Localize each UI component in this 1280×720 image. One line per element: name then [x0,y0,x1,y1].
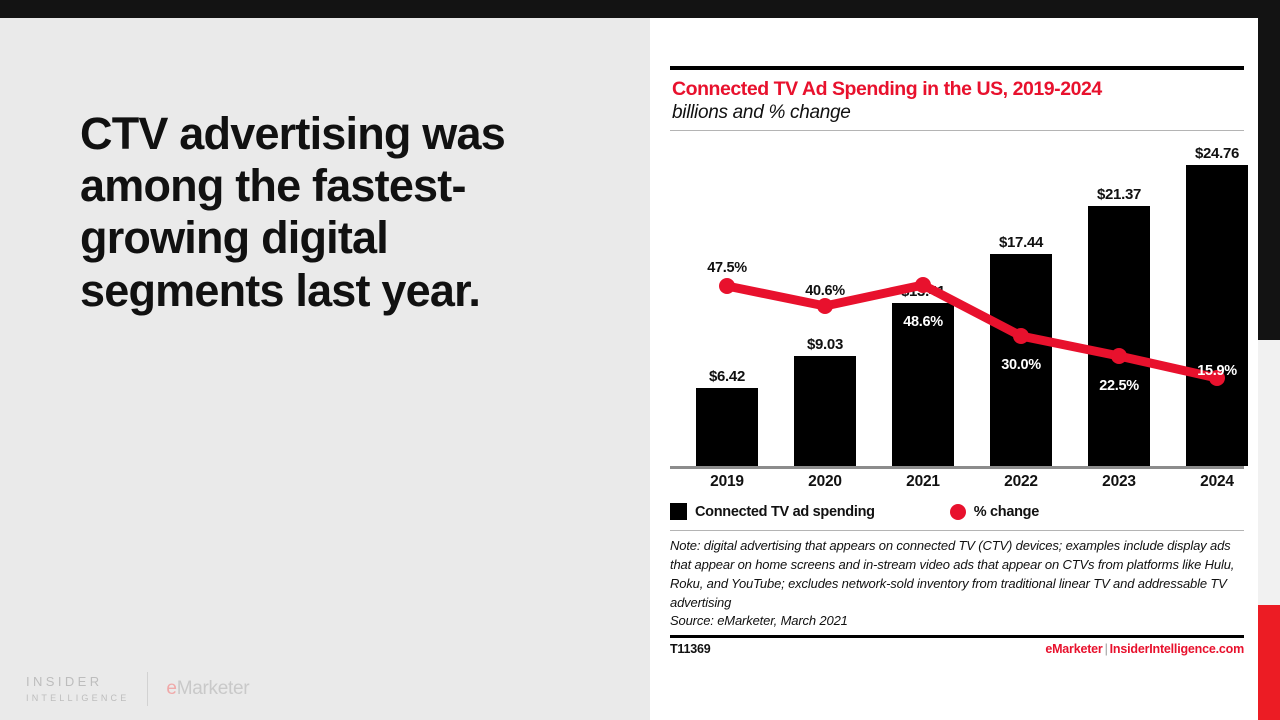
slide-headline: CTV advertising was among the fastest-gr… [80,108,600,317]
x-tick-2020: 2020 [779,473,871,491]
footer-site[interactable]: InsiderIntelligence.com [1110,642,1244,656]
footer-code: T11369 [670,642,711,656]
pct-label-2022: 30.0% [981,357,1061,373]
legend-item-spending: Connected TV ad spending [670,503,875,520]
chart-note-text: Note: digital advertising that appears o… [670,538,1234,610]
chart-card: Connected TV Ad Spending in the US, 2019… [650,18,1258,720]
footer-separator: | [1103,642,1110,656]
x-tick-2023: 2023 [1073,473,1165,491]
right-edge-strip-black [1258,0,1280,340]
footer-attribution: eMarketer|InsiderIntelligence.com [1045,642,1244,656]
right-edge-strip-red [1258,605,1280,720]
legend-label-spending: Connected TV ad spending [695,504,875,520]
pct-label-2023: 22.5% [1079,378,1159,394]
x-tick-2022: 2022 [975,473,1067,491]
x-tick-2021: 2021 [877,473,969,491]
legend-item-pct-change: % change [950,504,1039,520]
title-rule-bottom [670,130,1244,131]
pct-label-2019: 47.5% [687,260,767,276]
legend-label-pct-change: % change [974,504,1039,520]
chart-source-text: Source: eMarketer, March 2021 [670,613,848,628]
pct-label-2024: 15.9% [1177,363,1257,379]
x-tick-2019: 2019 [681,473,773,491]
x-axis-ticks: 2019 2020 2021 2022 2023 2024 [670,469,1244,497]
percent-change-line [670,135,1244,469]
plot-area: $6.42 $9.03 $13.41 $17.44 $21.37 $24.76 … [670,135,1244,469]
chart-subtitle: billions and % change [670,101,1244,130]
chart-legend: Connected TV ad spending % change [670,503,1244,530]
insider-logo-line2: INTELLIGENCE [26,692,129,705]
emarketer-logo-e: e [166,678,176,699]
insider-logo-line1: INSIDER [26,673,129,692]
insider-intelligence-logo: INSIDER INTELLIGENCE [26,673,129,705]
brand-divider [147,672,148,706]
legend-circle-icon [950,504,966,520]
footer-brand: eMarketer [1045,642,1102,656]
chart-note: Note: digital advertising that appears o… [670,531,1244,635]
x-tick-2024: 2024 [1171,473,1263,491]
emarketer-logo: eMarketer [166,678,249,700]
top-black-bar [0,0,1280,18]
headline-panel: CTV advertising was among the fastest-gr… [0,18,650,720]
emarketer-logo-text: Marketer [177,678,250,699]
pct-label-2021: 48.6% [883,314,963,330]
pct-label-2020: 40.6% [785,283,865,299]
chart-footer: T11369 eMarketer|InsiderIntelligence.com [670,638,1244,656]
brand-lockup: INSIDER INTELLIGENCE eMarketer [26,672,249,706]
legend-square-icon [670,503,687,520]
chart-title: Connected TV Ad Spending in the US, 2019… [670,70,1244,101]
chart-card-inner: Connected TV Ad Spending in the US, 2019… [670,66,1244,656]
